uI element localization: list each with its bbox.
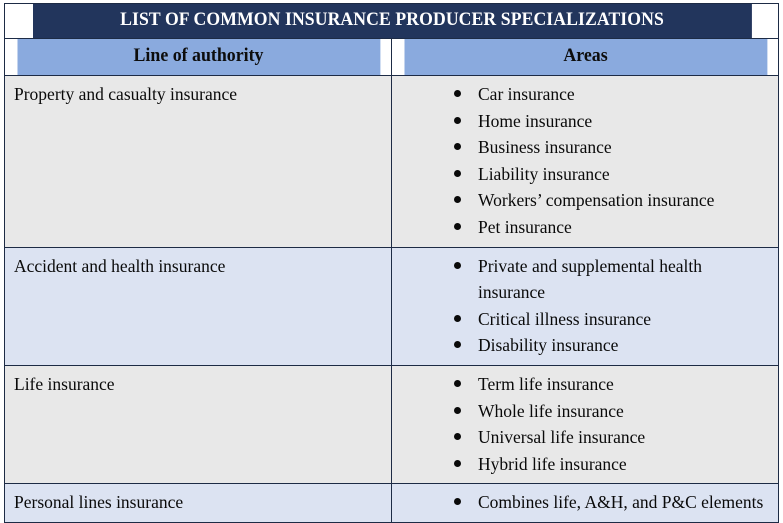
bullet-icon <box>454 498 461 505</box>
area-label: Car insurance <box>478 84 575 104</box>
table-title-row: LIST OF COMMON INSURANCE PRODUCER SPECIA… <box>5 4 779 39</box>
area-list-item: Universal life insurance <box>454 424 772 451</box>
table-body: Property and casualty insuranceCar insur… <box>5 76 779 523</box>
area-list-item: Pet insurance <box>454 214 772 241</box>
area-list-item: Workers’ compensation insurance <box>454 187 772 214</box>
bullet-icon <box>454 315 461 322</box>
area-label: Liability insurance <box>478 164 610 184</box>
area-label: Universal life insurance <box>478 427 645 447</box>
table-title: LIST OF COMMON INSURANCE PRODUCER SPECIA… <box>32 4 752 39</box>
area-label: Combines life, A&H, and P&C elements <box>478 492 763 512</box>
line-of-authority-label: Property and casualty insurance <box>14 81 383 108</box>
cell-areas: Combines life, A&H, and P&C elements <box>392 484 779 523</box>
area-label: Pet insurance <box>478 217 572 237</box>
cell-areas: Term life insuranceWhole life insuranceU… <box>392 365 779 483</box>
bullet-icon <box>454 380 461 387</box>
bullet-icon <box>454 433 461 440</box>
column-header-areas: Areas <box>403 39 767 76</box>
bullet-icon <box>454 460 461 467</box>
areas-list: Combines life, A&H, and P&C elements <box>392 489 772 516</box>
bullet-icon <box>454 196 461 203</box>
bullet-icon <box>454 117 461 124</box>
areas-list: Term life insuranceWhole life insuranceU… <box>392 371 772 477</box>
area-label: Hybrid life insurance <box>478 454 627 474</box>
area-label: Workers’ compensation insurance <box>478 190 714 210</box>
line-of-authority-label: Life insurance <box>14 371 383 398</box>
line-of-authority-label: Accident and health insurance <box>14 253 383 280</box>
column-header-row: Line of authority Areas <box>5 39 779 76</box>
area-list-item: Car insurance <box>454 81 772 108</box>
area-label: Whole life insurance <box>478 401 624 421</box>
area-list-item: Disability insurance <box>454 332 772 359</box>
area-label: Term life insurance <box>478 374 614 394</box>
area-label: Disability insurance <box>478 335 618 355</box>
bullet-icon <box>454 407 461 414</box>
bullet-icon <box>454 90 461 97</box>
area-list-item: Hybrid life insurance <box>454 451 772 478</box>
table-container: LIST OF COMMON INSURANCE PRODUCER SPECIA… <box>0 0 783 523</box>
bullet-icon <box>454 143 461 150</box>
area-list-item: Term life insurance <box>454 371 772 398</box>
area-list-item: Liability insurance <box>454 161 772 188</box>
area-label: Critical illness insurance <box>478 309 651 329</box>
area-list-item: Business insurance <box>454 134 772 161</box>
bullet-icon <box>454 262 461 269</box>
bullet-icon <box>454 341 461 348</box>
cell-areas: Private and supplemental health insuranc… <box>392 247 779 365</box>
area-list-item: Private and supplemental health insuranc… <box>454 253 772 306</box>
table-row: Accident and health insurancePrivate and… <box>5 247 779 365</box>
insurance-specializations-table: LIST OF COMMON INSURANCE PRODUCER SPECIA… <box>4 3 779 523</box>
line-of-authority-label: Personal lines insurance <box>14 489 383 516</box>
cell-areas: Car insuranceHome insuranceBusiness insu… <box>392 76 779 248</box>
table-head: LIST OF COMMON INSURANCE PRODUCER SPECIA… <box>5 4 779 76</box>
areas-list: Private and supplemental health insuranc… <box>392 253 772 359</box>
table-row: Personal lines insuranceCombines life, A… <box>5 484 779 523</box>
area-list-item: Combines life, A&H, and P&C elements <box>454 489 772 516</box>
area-list-item: Critical illness insurance <box>454 306 772 333</box>
cell-line-of-authority: Property and casualty insurance <box>5 76 392 248</box>
column-header-line-of-authority: Line of authority <box>16 39 380 76</box>
area-list-item: Home insurance <box>454 108 772 135</box>
cell-line-of-authority: Personal lines insurance <box>5 484 392 523</box>
table-row: Life insuranceTerm life insuranceWhole l… <box>5 365 779 483</box>
area-list-item: Whole life insurance <box>454 398 772 425</box>
area-label: Private and supplemental health insuranc… <box>478 256 702 303</box>
areas-list: Car insuranceHome insuranceBusiness insu… <box>392 81 772 241</box>
bullet-icon <box>454 223 461 230</box>
area-label: Business insurance <box>478 137 612 157</box>
bullet-icon <box>454 170 461 177</box>
table-row: Property and casualty insuranceCar insur… <box>5 76 779 248</box>
area-label: Home insurance <box>478 111 592 131</box>
cell-line-of-authority: Life insurance <box>5 365 392 483</box>
cell-line-of-authority: Accident and health insurance <box>5 247 392 365</box>
